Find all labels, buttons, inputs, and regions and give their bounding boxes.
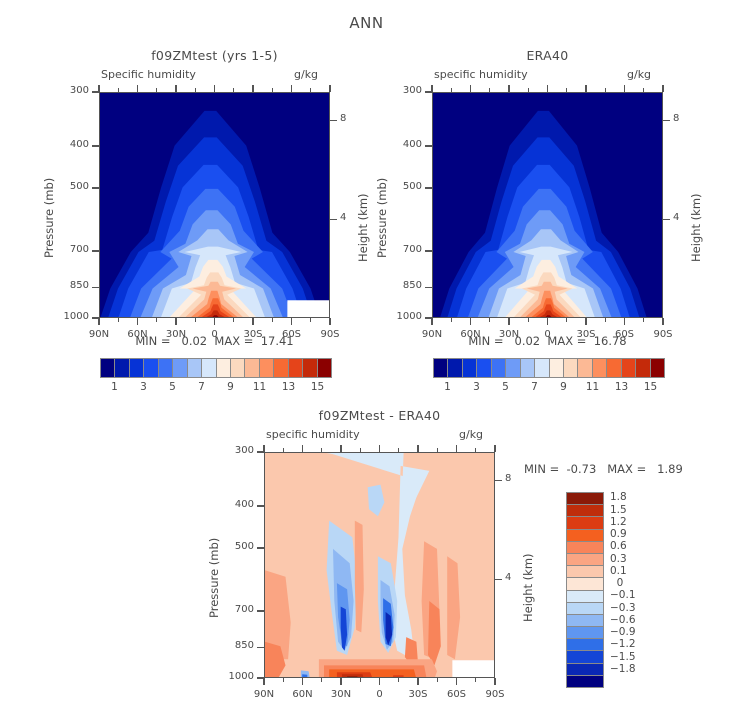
colorbar-cell[interactable] [217,359,231,377]
colorbar-cell[interactable] [448,359,462,377]
x-tick [340,678,341,685]
colorbar-cell[interactable] [506,359,520,377]
colorbar-cell[interactable] [130,359,144,377]
y-tick-label: 300 [216,445,254,456]
x-minor-tick [437,678,438,682]
y2-tick-label: 4 [673,212,679,223]
y2-tick-label: 8 [673,113,679,124]
x-tick [662,85,663,92]
x-tick [329,318,330,325]
y-tick [425,287,432,288]
diff-panel-contour-field [265,453,494,677]
colorbar-cell[interactable] [188,359,202,377]
y-tick [425,145,432,146]
colorbar-tick-label: 1.2 [610,516,656,528]
left-panel-colorbar-labels: 13579111315 [100,381,332,395]
x-minor-tick [528,318,529,322]
y-tick [425,187,432,188]
y-tick-label: 500 [51,181,89,192]
diff-panel-stats: MIN = -0.73 MAX = 1.89 [524,462,683,476]
diff-panel-units: g/kg [459,428,483,441]
x-tick-label: 0 [360,689,400,700]
y-tick [425,250,432,251]
x-tick [291,318,292,325]
y-tick-label: 400 [384,139,422,150]
y-tick [257,505,264,506]
y-tick-label: 700 [51,244,89,255]
right-panel-variable-label: specific humidity [434,68,528,81]
x-tick [329,85,330,92]
surface-positive-south2 [392,675,404,677]
colorbar-cell[interactable] [101,359,115,377]
left-panel-contour-field [100,93,329,317]
x-tick [291,85,292,92]
right-panel-y2label: Height (km) [689,193,703,262]
colorbar-tick-label: −0.6 [610,614,656,626]
y-tick [92,187,99,188]
colorbar-cell[interactable] [567,591,603,603]
x-tick [508,318,509,325]
colorbar-cell[interactable] [231,359,245,377]
y2-tick-label: 4 [340,212,346,223]
colorbar-tick-label: 15 [298,381,338,393]
x-minor-tick [360,678,361,682]
x-tick [470,85,471,92]
colorbar-cell[interactable] [477,359,491,377]
x-tick-label: 90S [475,689,515,700]
colorbar-tick-label: 1.5 [610,504,656,516]
y-tick-label: 1000 [384,311,422,322]
y-tick [92,250,99,251]
colorbar-cell[interactable] [535,359,549,377]
diff-panel-title: f09ZMtest - ERA40 [264,408,495,423]
left-panel-title: f09ZMtest (yrs 1-5) [99,48,330,63]
colorbar-tick-label: 0.6 [610,540,656,552]
missing-data-region [452,660,494,677]
y-tick-label: 1000 [216,671,254,682]
y-tick [425,91,432,92]
colorbar-cell[interactable] [567,554,603,566]
y-tick [425,317,432,318]
colorbar-cell[interactable] [173,359,187,377]
colorbar-cell[interactable] [144,359,158,377]
x-tick [456,445,457,452]
x-tick [417,678,418,685]
colorbar-cell[interactable] [651,359,664,377]
x-tick [214,85,215,92]
colorbar-cell[interactable] [567,676,603,687]
colorbar-cell[interactable] [303,359,317,377]
colorbar-tick-label: 15 [631,381,671,393]
x-tick [456,678,457,685]
left-panel-plot [99,92,330,318]
x-minor-tick [475,678,476,682]
y2-tick-label: 4 [505,572,511,583]
x-tick [470,318,471,325]
colorbar-cell[interactable] [318,359,331,377]
colorbar-cell[interactable] [550,359,564,377]
y-tick [92,91,99,92]
y2-tick [663,120,670,121]
left-panel-variable-label: Specific humidity [101,68,196,81]
colorbar-cell[interactable] [593,359,607,377]
x-tick [175,85,176,92]
left-panel-stats: MIN = 0.02 MAX = 17.41 [99,334,330,348]
y-tick-label: 850 [384,280,422,291]
y-tick-label: 300 [51,85,89,96]
diff-panel-colorbar-labels: 1.81.51.20.90.60.30.1 0−0.1−0.3−0.6−0.9−… [610,492,670,688]
right-panel-colorbar[interactable] [433,358,665,378]
x-tick [252,85,253,92]
diff-panel-ylabel: Pressure (mb) [207,538,221,618]
diff-panel-colorbar[interactable] [566,492,604,688]
x-tick-label: 30S [398,689,438,700]
colorbar-tick-label: −0.9 [610,626,656,638]
x-minor-tick [283,678,284,682]
colorbar-cell[interactable] [567,651,603,663]
y2-tick [495,579,502,580]
left-panel-y2label: Height (km) [356,193,370,262]
y2-tick [663,219,670,220]
y2-tick [330,120,337,121]
left-panel-units: g/kg [294,68,318,81]
colorbar-cell[interactable] [463,359,477,377]
x-tick [379,678,380,685]
y2-tick [495,480,502,481]
colorbar-cell[interactable] [289,359,303,377]
figure-title: ANN [0,14,733,32]
colorbar-tick-label: 0 [610,577,656,589]
colorbar-cell[interactable] [245,359,259,377]
y2-tick-label: 8 [340,113,346,124]
colorbar-cell[interactable] [202,359,216,377]
colorbar-cell[interactable] [521,359,535,377]
y-tick-label: 400 [216,499,254,510]
right-panel-units: g/kg [627,68,651,81]
x-tick [585,85,586,92]
x-tick [137,318,138,325]
x-minor-tick [233,318,234,322]
x-tick [137,85,138,92]
right-panel-stats: MIN = 0.02 MAX = 16.78 [432,334,663,348]
colorbar-cell[interactable] [578,359,592,377]
diff-panel-plot [264,452,495,678]
x-minor-tick [118,318,119,322]
colorbar-cell[interactable] [636,359,650,377]
colorbar-cell[interactable] [567,505,603,517]
y-tick-label: 400 [51,139,89,150]
x-minor-tick [321,678,322,682]
y-tick-label: 500 [216,541,254,552]
x-tick-label: 60N [283,689,323,700]
y-tick-label: 1000 [51,311,89,322]
colorbar-cell[interactable] [567,566,603,578]
x-tick [302,678,303,685]
x-minor-tick [643,318,644,322]
diff-panel-variable-label: specific humidity [266,428,360,441]
right-panel-ylabel: Pressure (mb) [375,178,389,258]
right-panel-contour-field [433,93,662,317]
y-tick-label: 700 [384,244,422,255]
colorbar-cell[interactable] [274,359,288,377]
y-tick-label: 300 [384,85,422,96]
x-tick [494,445,495,452]
colorbar-cell[interactable] [567,517,603,529]
right-panel-title: ERA40 [432,48,663,63]
y-tick-label: 850 [216,640,254,651]
x-tick [624,85,625,92]
x-tick [379,445,380,452]
colorbar-cell[interactable] [260,359,274,377]
colorbar-tick-label: 1.8 [610,491,656,503]
colorbar-cell[interactable] [567,664,603,676]
y-tick-label: 700 [216,604,254,615]
colorbar-tick-label: −1.5 [610,651,656,663]
x-tick [175,318,176,325]
x-minor-tick [310,318,311,322]
colorbar-tick-label: 0.9 [610,528,656,540]
colorbar-cell[interactable] [567,603,603,615]
y-tick [257,547,264,548]
colorbar-cell[interactable] [115,359,129,377]
missing-data-region [287,300,329,317]
x-tick [508,85,509,92]
colorbar-cell[interactable] [567,530,603,542]
y-tick [257,677,264,678]
colorbar-cell[interactable] [567,639,603,651]
colorbar-cell[interactable] [622,359,636,377]
colorbar-cell[interactable] [567,627,603,639]
colorbar-tick-label: −0.1 [610,589,656,601]
y-tick [92,145,99,146]
colorbar-cell[interactable] [607,359,621,377]
y-tick-label: 850 [51,280,89,291]
x-minor-tick [605,318,606,322]
y-tick [257,610,264,611]
colorbar-cell[interactable] [567,493,603,505]
x-minor-tick [195,318,196,322]
x-tick [431,85,432,92]
x-minor-tick [451,318,452,322]
y-tick [257,647,264,648]
y-tick [92,317,99,318]
y2-tick-label: 8 [505,473,511,484]
x-tick-label: 30N [321,689,361,700]
colorbar-tick-label: 0.3 [610,553,656,565]
colorbar-cell[interactable] [567,615,603,627]
x-tick [252,318,253,325]
x-tick-label: 60S [437,689,477,700]
x-tick [585,318,586,325]
x-tick [302,445,303,452]
x-tick [547,318,548,325]
diff-panel-y2label: Height (km) [521,553,535,622]
y-tick [92,287,99,288]
x-tick [417,445,418,452]
colorbar-cell[interactable] [434,359,448,377]
x-tick [263,678,264,685]
x-tick [547,85,548,92]
x-tick [340,445,341,452]
colorbar-cell[interactable] [567,542,603,554]
colorbar-cell[interactable] [492,359,506,377]
y-tick-label: 500 [384,181,422,192]
colorbar-tick-label: −1.8 [610,663,656,675]
left-panel-colorbar[interactable] [100,358,332,378]
x-minor-tick [566,318,567,322]
x-minor-tick [156,318,157,322]
y-tick [257,451,264,452]
x-tick [662,318,663,325]
right-panel-colorbar-labels: 13579111315 [433,381,665,395]
x-tick [98,85,99,92]
x-minor-tick [489,318,490,322]
x-minor-tick [272,318,273,322]
left-panel-ylabel: Pressure (mb) [42,178,56,258]
colorbar-tick-label: −0.3 [610,602,656,614]
colorbar-tick-label: 0.1 [610,565,656,577]
colorbar-cell[interactable] [567,578,603,590]
y2-tick [330,219,337,220]
x-tick [431,318,432,325]
x-tick [624,318,625,325]
x-tick [214,318,215,325]
x-tick [263,445,264,452]
x-tick [98,318,99,325]
colorbar-cell[interactable] [564,359,578,377]
x-tick-label: 90N [244,689,284,700]
colorbar-cell[interactable] [159,359,173,377]
right-panel-plot [432,92,663,318]
x-minor-tick [398,678,399,682]
x-tick [494,678,495,685]
colorbar-tick-label: −1.2 [610,638,656,650]
surface-positive-peak [347,676,357,677]
